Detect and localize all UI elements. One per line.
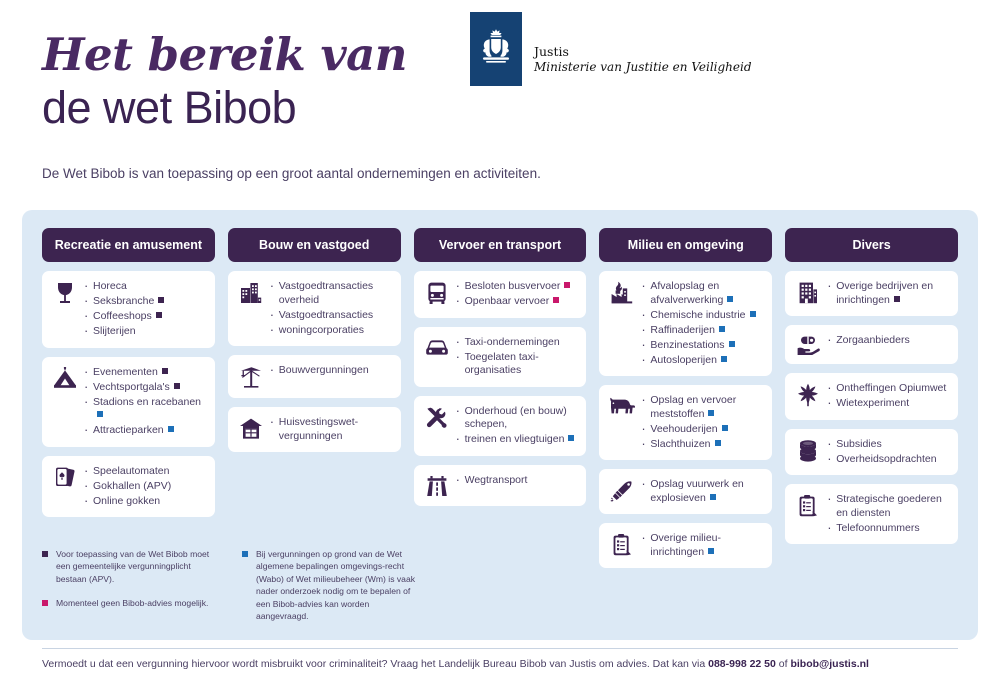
- category-card: Afvalopslag en afvalverwerkingChemische …: [599, 271, 772, 376]
- list-item-label: Coffeeshops: [93, 310, 152, 322]
- list-item: Openbaar vervoer: [454, 295, 579, 309]
- category-column: DiversOverige bedrijven en inrichtingenZ…: [785, 228, 958, 544]
- marker-blue-icon: [708, 548, 714, 554]
- legend-item-text: Bij vergunningen op grond van de Wet alg…: [256, 549, 415, 621]
- category-card: Bouwvergunningen: [228, 355, 401, 398]
- legend-column-right: Bij vergunningen op grond van de Wet alg…: [242, 548, 420, 622]
- legend-item-text: Momenteel geen Bibob-advies mogelijk.: [56, 598, 208, 608]
- list-item-label: Openbaar vervoer: [465, 295, 550, 307]
- card-item-list: Onderhoud (en bouw) schepen,treinen en v…: [454, 405, 579, 447]
- list-item: Overheidsopdrachten: [825, 453, 950, 467]
- list-item-label: Stadions en racebanen: [93, 396, 201, 408]
- list-item: Evenementen: [82, 366, 207, 380]
- legend: Voor toepassing van de Wet Bibob moet ee…: [42, 548, 442, 622]
- list-item: Horeca: [82, 280, 207, 294]
- factory-icon: [607, 280, 637, 305]
- cannabis-leaf-icon: [793, 382, 823, 407]
- firework-icon: [607, 478, 637, 503]
- category-card: SubsidiesOverheidsopdrachten: [785, 429, 958, 476]
- list-item-label: Telefoonnummers: [836, 522, 919, 534]
- marker-blue-icon: [750, 311, 756, 317]
- column-header[interactable]: Divers: [785, 228, 958, 262]
- list-item: Subsidies: [825, 438, 950, 452]
- footer-separator: of: [776, 658, 791, 670]
- legend-item-text: Voor toepassing van de Wet Bibob moet ee…: [56, 549, 209, 584]
- card-item-list: Bouwvergunningen: [268, 364, 393, 378]
- list-item-label: Veehouderijen: [650, 423, 717, 435]
- list-item: Attractieparken: [82, 424, 207, 438]
- house-icon: [236, 416, 266, 440]
- card-item-list: Overige milieu-inrichtingen: [639, 532, 764, 559]
- list-item: Online gokken: [82, 495, 207, 509]
- bus-icon: [422, 280, 452, 305]
- list-item: Overige bedrijven en inrichtingen: [825, 280, 950, 307]
- office-building-icon: [793, 280, 823, 305]
- wine-glass-icon: [50, 280, 80, 305]
- list-item-label: Slijterijen: [93, 325, 136, 337]
- marker-blue-icon: [97, 411, 103, 417]
- list-item-label: Vastgoedtransacties: [279, 309, 373, 321]
- list-item-label: Ontheffingen Opiumwet: [836, 382, 946, 394]
- list-item-label: Speelautomaten: [93, 465, 169, 477]
- category-card: Zorgaanbieders: [785, 325, 958, 364]
- page-title-line1: Het bereik van: [42, 30, 407, 80]
- category-card: Vastgoedtransacties overheidVastgoedtran…: [228, 271, 401, 346]
- category-column: Milieu en omgevingAfvalopslag en afvalve…: [599, 228, 772, 568]
- category-column: Recreatie en amusementHorecaSeksbrancheC…: [42, 228, 215, 517]
- footer-text: Vermoedt u dat een vergunning hiervoor w…: [42, 658, 708, 670]
- list-item-label: Evenementen: [93, 366, 158, 378]
- list-item-label: Bouwvergunningen: [279, 364, 369, 376]
- list-item: Speelautomaten: [82, 465, 207, 479]
- list-item-label: Horeca: [93, 280, 127, 292]
- column-header[interactable]: Recreatie en amusement: [42, 228, 215, 262]
- card-item-list: Besloten busvervoerOpenbaar vervoer: [454, 280, 579, 309]
- highway-icon: [422, 474, 452, 497]
- list-item: Ontheffingen Opiumwet: [825, 382, 950, 396]
- list-item: Toegelaten taxi-organisaties: [454, 351, 579, 378]
- tools-icon: [422, 405, 452, 430]
- taxi-icon: [422, 336, 452, 357]
- legend-item: Bij vergunningen op grond van de Wet alg…: [242, 548, 420, 622]
- column-header[interactable]: Vervoer en transport: [414, 228, 587, 262]
- list-item-label: Opslag en vervoer meststoffen: [650, 394, 736, 420]
- marker-blue-icon: [168, 426, 174, 432]
- logo-organisation-name: Justis: [534, 44, 752, 59]
- list-item-label: Afvalopslag en afvalverwerking: [650, 280, 723, 306]
- infographic-page: Het bereik van de wet Bibob De Wet Bibob…: [0, 0, 1000, 700]
- list-item-label: Attractieparken: [93, 424, 164, 436]
- card-item-list: Opslag vuurwerk en explosieven: [639, 478, 764, 505]
- marker-blue-icon: [721, 356, 727, 362]
- list-item: Stadions en racebanen: [82, 396, 207, 423]
- list-item-label: Gokhallen (APV): [93, 480, 171, 492]
- page-subtitle: De Wet Bibob is van toepassing op een gr…: [42, 166, 541, 181]
- card-item-list: Ontheffingen OpiumwetWietexperiment: [825, 382, 950, 411]
- list-item-label: Wietexperiment: [836, 397, 909, 409]
- list-item-label: Chemische industrie: [650, 309, 745, 321]
- list-item: Gokhallen (APV): [82, 480, 207, 494]
- marker-purple-icon: [174, 383, 180, 389]
- list-item: Vastgoedtransacties overheid: [268, 280, 393, 307]
- card-item-list: SpeelautomatenGokhallen (APV)Online gokk…: [82, 465, 207, 509]
- marker-purple-icon: [158, 297, 164, 303]
- category-card: Strategische goederen en dienstenTelefoo…: [785, 484, 958, 544]
- list-item-label: Strategische goederen en diensten: [836, 493, 942, 519]
- marker-blue-icon: [722, 425, 728, 431]
- logo-text: Justis Ministerie van Justitie en Veilig…: [534, 12, 752, 75]
- category-card: HorecaSeksbrancheCoffeeshopsSlijterijen: [42, 271, 215, 348]
- list-item: Strategische goederen en diensten: [825, 493, 950, 520]
- legend-marker-blue-icon: [242, 551, 248, 557]
- footer-divider: [42, 648, 958, 649]
- list-item: Chemische industrie: [639, 309, 764, 323]
- marker-pink-icon: [553, 297, 559, 303]
- marker-purple-icon: [156, 312, 162, 318]
- list-item: Slachthuizen: [639, 438, 764, 452]
- list-item-label: Overige bedrijven en inrichtingen: [836, 280, 933, 306]
- card-item-list: Overige bedrijven en inrichtingen: [825, 280, 950, 307]
- card-item-list: Zorgaanbieders: [825, 334, 950, 348]
- footer-contact: Vermoedt u dat een vergunning hiervoor w…: [42, 658, 869, 670]
- category-card: Onderhoud (en bouw) schepen,treinen en v…: [414, 396, 587, 456]
- card-item-list: Vastgoedtransacties overheidVastgoedtran…: [268, 280, 393, 337]
- card-item-list: Opslag en vervoer meststoffenVeehouderij…: [639, 394, 764, 451]
- coins-icon: [793, 438, 823, 463]
- marker-blue-icon: [715, 440, 721, 446]
- category-card: SpeelautomatenGokhallen (APV)Online gokk…: [42, 456, 215, 518]
- list-item-label: Online gokken: [93, 495, 160, 507]
- category-card: Besloten busvervoerOpenbaar vervoer: [414, 271, 587, 318]
- legend-marker-purple-icon: [42, 551, 48, 557]
- card-item-list: Strategische goederen en dienstenTelefoo…: [825, 493, 950, 535]
- category-card: Overige bedrijven en inrichtingen: [785, 271, 958, 316]
- card-item-list: Taxi-ondernemingenToegelaten taxi-organi…: [454, 336, 579, 378]
- list-item-label: Subsidies: [836, 438, 882, 450]
- list-item-label: Vechtsportgala's: [93, 381, 170, 393]
- marker-blue-icon: [719, 326, 725, 332]
- buildings-icon: [236, 280, 266, 305]
- list-item-label: Huisvestingswet-vergunningen: [279, 416, 358, 442]
- category-card: Wegtransport: [414, 465, 587, 506]
- list-item: Besloten busvervoer: [454, 280, 579, 294]
- list-item-label: Toegelaten taxi-organisaties: [465, 351, 539, 377]
- category-columns: Recreatie en amusementHorecaSeksbrancheC…: [42, 228, 958, 568]
- category-card: Opslag vuurwerk en explosieven: [599, 469, 772, 514]
- legend-marker-pink-icon: [42, 600, 48, 606]
- list-item: Taxi-ondernemingen: [454, 336, 579, 350]
- list-item-label: Overige milieu-inrichtingen: [650, 532, 721, 558]
- list-item-label: Slachthuizen: [650, 438, 710, 450]
- crane-icon: [236, 364, 266, 389]
- list-item-label: Taxi-ondernemingen: [465, 336, 560, 348]
- playing-cards-icon: [50, 465, 80, 490]
- list-item: Opslag vuurwerk en explosieven: [639, 478, 764, 505]
- marker-blue-icon: [708, 410, 714, 416]
- list-item-label: woningcorporaties: [279, 324, 364, 336]
- list-item: Afvalopslag en afvalverwerking: [639, 280, 764, 307]
- list-item: Wegtransport: [454, 474, 579, 488]
- list-item-label: Vastgoedtransacties overheid: [279, 280, 373, 306]
- category-card: Huisvestingswet-vergunningen: [228, 407, 401, 452]
- list-item: Zorgaanbieders: [825, 334, 950, 348]
- footer-email[interactable]: bibob@justis.nl: [790, 658, 868, 670]
- footer-phone[interactable]: 088-998 22 50: [708, 658, 776, 670]
- clipboard-icon: [793, 493, 823, 518]
- column-header[interactable]: Bouw en vastgoed: [228, 228, 401, 262]
- category-card: Overige milieu-inrichtingen: [599, 523, 772, 568]
- list-item: Veehouderijen: [639, 423, 764, 437]
- category-column: Vervoer en transportBesloten busvervoerO…: [414, 228, 587, 506]
- list-item: Overige milieu-inrichtingen: [639, 532, 764, 559]
- list-item-label: Opslag vuurwerk en explosieven: [650, 478, 743, 504]
- list-item: woningcorporaties: [268, 324, 393, 338]
- list-item: Benzinestations: [639, 339, 764, 353]
- category-card: Ontheffingen OpiumwetWietexperiment: [785, 373, 958, 420]
- list-item: Seksbranche: [82, 295, 207, 309]
- page-header: Het bereik van de wet Bibob De Wet Bibob…: [0, 0, 1000, 200]
- list-item-label: Overheidsopdrachten: [836, 453, 936, 465]
- list-item-label: Wegtransport: [465, 474, 528, 486]
- title-block: Het bereik van de wet Bibob: [42, 30, 407, 134]
- list-item: Slijterijen: [82, 325, 207, 339]
- list-item-label: Raffinaderijen: [650, 324, 715, 336]
- list-item: treinen en vliegtuigen: [454, 433, 579, 447]
- list-item: Onderhoud (en bouw) schepen,: [454, 405, 579, 432]
- marker-blue-icon: [568, 435, 574, 441]
- list-item: Telefoonnummers: [825, 522, 950, 536]
- clipboard-icon: [607, 532, 637, 557]
- category-card: EvenementenVechtsportgala'sStadions en r…: [42, 357, 215, 447]
- marker-pink-icon: [564, 282, 570, 288]
- list-item: Coffeeshops: [82, 310, 207, 324]
- logo-ministry-name: Ministerie van Justitie en Veiligheid: [534, 59, 752, 75]
- category-card: Opslag en vervoer meststoffenVeehouderij…: [599, 385, 772, 460]
- card-item-list: SubsidiesOverheidsopdrachten: [825, 438, 950, 467]
- card-item-list: EvenementenVechtsportgala'sStadions en r…: [82, 366, 207, 438]
- marker-purple-icon: [894, 296, 900, 302]
- coat-of-arms-icon: [470, 12, 522, 86]
- marker-blue-icon: [727, 296, 733, 302]
- category-card: Taxi-ondernemingenToegelaten taxi-organi…: [414, 327, 587, 387]
- marker-purple-icon: [162, 368, 168, 374]
- list-item: Vechtsportgala's: [82, 381, 207, 395]
- list-item: Bouwvergunningen: [268, 364, 393, 378]
- cow-icon: [607, 394, 637, 415]
- marker-blue-icon: [710, 494, 716, 500]
- list-item: Vastgoedtransacties: [268, 309, 393, 323]
- pill-hand-icon: [793, 334, 823, 355]
- card-item-list: HorecaSeksbrancheCoffeeshopsSlijterijen: [82, 280, 207, 339]
- card-item-list: Afvalopslag en afvalverwerkingChemische …: [639, 280, 764, 367]
- list-item: Wietexperiment: [825, 397, 950, 411]
- list-item: Autosloperijen: [639, 354, 764, 368]
- list-item-label: Onderhoud (en bouw) schepen,: [465, 405, 567, 431]
- legend-column-left: Voor toepassing van de Wet Bibob moet ee…: [42, 548, 220, 622]
- list-item-label: Besloten busvervoer: [465, 280, 561, 292]
- card-item-list: Wegtransport: [454, 474, 579, 488]
- justis-logo: Justis Ministerie van Justitie en Veilig…: [470, 12, 752, 86]
- list-item-label: Seksbranche: [93, 295, 154, 307]
- column-header[interactable]: Milieu en omgeving: [599, 228, 772, 262]
- list-item-label: Benzinestations: [650, 339, 724, 351]
- legend-item: Momenteel geen Bibob-advies mogelijk.: [42, 597, 220, 609]
- list-item: Opslag en vervoer meststoffen: [639, 394, 764, 421]
- list-item: Raffinaderijen: [639, 324, 764, 338]
- list-item-label: Zorgaanbieders: [836, 334, 910, 346]
- category-column: Bouw en vastgoedVastgoedtransacties over…: [228, 228, 401, 452]
- legend-item: Voor toepassing van de Wet Bibob moet ee…: [42, 548, 220, 585]
- card-item-list: Huisvestingswet-vergunningen: [268, 416, 393, 443]
- circus-tent-icon: [50, 366, 80, 389]
- page-title-line2: de wet Bibob: [42, 82, 407, 134]
- list-item-label: Autosloperijen: [650, 354, 717, 366]
- list-item-label: treinen en vliegtuigen: [465, 433, 565, 445]
- list-item: Huisvestingswet-vergunningen: [268, 416, 393, 443]
- marker-blue-icon: [729, 341, 735, 347]
